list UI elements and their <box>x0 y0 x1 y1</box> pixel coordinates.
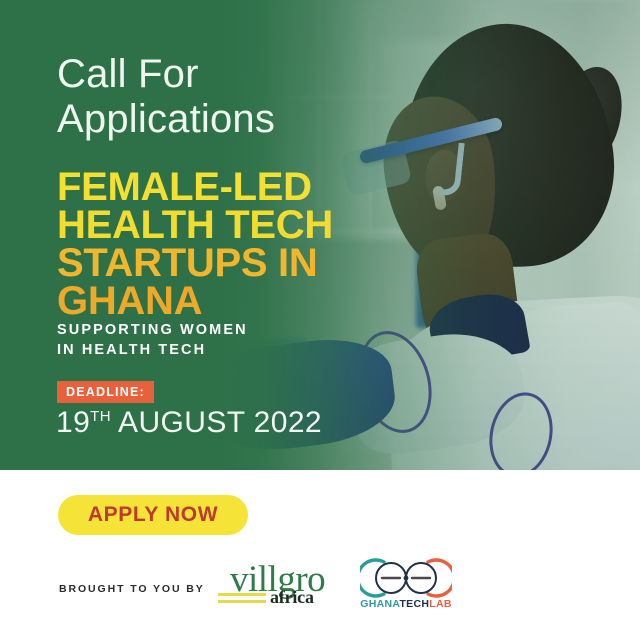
deadline-date: 19TH AUGUST 2022 <box>56 406 322 440</box>
subhead-line-1: SUPPORTING WOMEN <box>57 322 248 338</box>
sub-headline: SUPPORTING WOMEN IN HEALTH TECH <box>57 320 248 360</box>
gtl-lab-text: LAB <box>429 598 451 610</box>
hero-section: Call For Applications FEMALE-LED HEALTH … <box>0 0 640 470</box>
headline-line-1: FEMALE-LED <box>57 168 333 206</box>
subhead-line-2: IN HEALTH TECH <box>57 342 206 358</box>
kicker-line-1: Call For <box>57 52 199 96</box>
apply-now-button[interactable]: APPLY NOW <box>58 495 248 535</box>
footer-section: APPLY NOW BROUGHT TO YOU BY villgro afri… <box>0 470 640 640</box>
hero-text-block: Call For Applications FEMALE-LED HEALTH … <box>0 0 640 470</box>
deadline-day-number: 19 <box>56 406 90 439</box>
villgro-africa-wordmark: africa <box>270 587 314 608</box>
kicker-line-2: Applications <box>57 97 275 141</box>
promo-poster: Call For Applications FEMALE-LED HEALTH … <box>0 0 640 640</box>
deadline-day-suffix: TH <box>90 408 111 425</box>
gtl-tech-text: TECH <box>399 598 429 610</box>
headline-line-4: GHANA <box>57 282 333 320</box>
infinity-loop-icon <box>360 558 452 598</box>
headline-line-3: STARTUPS IN <box>57 244 333 282</box>
ghana-tech-lab-wordmark: GHANATECHLAB <box>352 598 460 610</box>
brought-to-you-by-label: BROUGHT TO YOU BY <box>59 583 205 595</box>
deadline-month-year: AUGUST 2022 <box>111 406 322 439</box>
main-headline: FEMALE-LED HEALTH TECH STARTUPS IN GHANA <box>57 168 333 320</box>
deadline-badge: DEADLINE: <box>57 381 154 403</box>
kicker-heading: Call For Applications <box>57 52 275 142</box>
villgro-africa-logo[interactable]: villgro africa <box>218 562 338 610</box>
gtl-ghana-text: GHANA <box>360 598 399 610</box>
headline-line-2: HEALTH TECH <box>57 206 333 244</box>
ghana-tech-lab-logo[interactable]: GHANATECHLAB <box>352 558 460 616</box>
villgro-bar-icon <box>218 600 266 603</box>
